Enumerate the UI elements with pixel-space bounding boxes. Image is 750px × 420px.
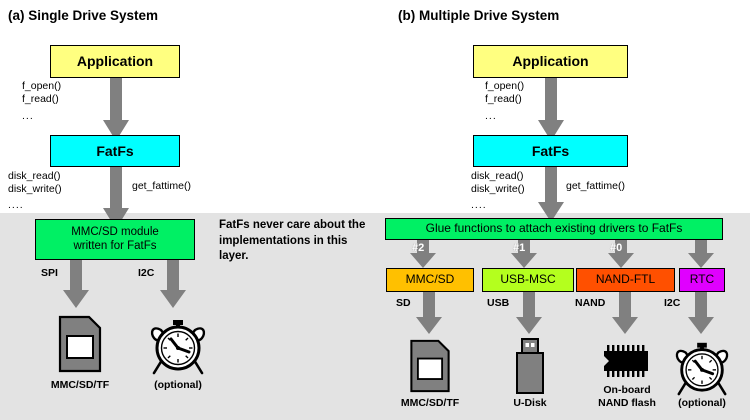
panel-b-fatfs-label: FatFs: [532, 143, 569, 159]
panel-b-call-disk-write: disk_write(): [471, 183, 525, 196]
panel-a-call-disk-read: disk_read(): [8, 170, 61, 183]
nand-chip-icon: [603, 345, 649, 377]
panel-a-call-f-open: f_open(): [22, 80, 61, 93]
panel-b-call-f-open: f_open(): [485, 80, 524, 93]
panel-b-driver-label-rtc: RTC: [690, 273, 714, 287]
panel-b-drive-number-0: #0: [610, 242, 622, 254]
panel-b-device-caption-nand-line1: On-board: [592, 384, 662, 396]
panel-b-glue-box[interactable]: Glue functions to attach existing driver…: [385, 218, 723, 240]
panel-b-bus-label-i2c: I2C: [664, 297, 680, 309]
panel-b-call-get-fattime: get_fattime(): [566, 180, 625, 193]
panel-a-call-ellipsis: ...: [22, 110, 34, 122]
panel-b-drive-number-1: #1: [513, 242, 525, 254]
panel-a-device-caption-rtc: (optional): [144, 379, 212, 391]
panel-b-device-caption-udisk: U-Disk: [498, 397, 562, 409]
panel-b-fatfs-box[interactable]: FatFs: [473, 135, 628, 167]
panel-b-call-f-read: f_read(): [485, 93, 522, 106]
panel-b-device-caption-rtc: (optional): [668, 397, 736, 409]
panel-b-arrow-bus-nand: [612, 292, 638, 334]
panel-b-arrow-fatfs-to-glue: [538, 167, 564, 222]
panel-b-call-ellipsis-2: ....: [471, 199, 487, 211]
panel-b-driver-label-nandftl: NAND-FTL: [596, 273, 655, 287]
panel-a-call-disk-write: disk_write(): [8, 183, 62, 196]
panel-a-note: FatFs never care about the implementatio…: [219, 218, 374, 265]
panel-b-arrow-bus-usb: [516, 292, 542, 334]
panel-b-arrow-bus-sd: [416, 292, 442, 334]
panel-b-drive-number-2: #2: [412, 242, 424, 254]
panel-b-driver-label-usbmsc: USB-MSC: [500, 273, 555, 287]
panel-b-driver-box-mmcsd[interactable]: MMC/SD: [386, 268, 474, 292]
panel-a-call-get-fattime: get_fattime(): [132, 180, 191, 193]
panel-b-driver-box-nandftl[interactable]: NAND-FTL: [576, 268, 675, 292]
panel-b-bus-label-nand: NAND: [575, 297, 605, 309]
panel-b-call-ellipsis: ...: [485, 110, 497, 122]
panel-a-device-caption-sd: MMC/SD/TF: [41, 379, 119, 391]
panel-b-glue-label: Glue functions to attach existing driver…: [426, 222, 683, 236]
panel-a-bus-label-i2c: I2C: [138, 267, 154, 279]
panel-b-bus-label-sd: SD: [396, 297, 411, 309]
panel-a-arrow-app-to-fatfs: [103, 78, 129, 141]
panel-b-driver-box-usbmsc[interactable]: USB-MSC: [482, 268, 574, 292]
panel-a-arrow-i2c: [160, 260, 186, 308]
panel-b-driver-box-rtc[interactable]: RTC: [679, 268, 725, 292]
panel-b-arrow-bus-i2c: [688, 292, 714, 334]
panel-b-device-caption-sd: MMC/SD/TF: [391, 397, 469, 409]
panel-a-fatfs-box[interactable]: FatFs: [50, 135, 180, 167]
diagram-canvas: (a) Single Drive System Application f_op…: [0, 0, 750, 420]
sd-card-icon: [58, 315, 102, 373]
panel-a-module-label-line1: MMC/SD module: [71, 226, 159, 239]
panel-a-call-f-read: f_read(): [22, 93, 59, 106]
sd-card-icon: [409, 339, 451, 393]
panel-a-module-box[interactable]: MMC/SD module written for FatFs: [35, 219, 195, 260]
panel-a-application-label: Application: [77, 53, 153, 69]
panel-b-driver-label-mmcsd: MMC/SD: [406, 273, 455, 287]
panel-a-fatfs-label: FatFs: [96, 143, 133, 159]
panel-a-application-box[interactable]: Application: [50, 45, 180, 78]
panel-a-arrow-spi: [63, 260, 89, 308]
panel-b-application-box[interactable]: Application: [473, 45, 628, 78]
alarm-clock-icon: [673, 336, 731, 396]
panel-b-title: (b) Multiple Drive System: [398, 8, 559, 23]
panel-a-bus-label-spi: SPI: [41, 267, 58, 279]
panel-b-arrow-drive-rtc: [688, 240, 714, 268]
panel-a-title: (a) Single Drive System: [8, 8, 158, 23]
panel-b-call-disk-read: disk_read(): [471, 170, 524, 183]
panel-b-device-caption-nand-line2: NAND flash: [587, 397, 667, 409]
panel-a-call-ellipsis-2: ....: [8, 199, 24, 211]
usb-stick-icon: [515, 338, 545, 394]
panel-a-module-label-line2: written for FatFs: [73, 240, 156, 253]
panel-b-arrow-app-to-fatfs: [538, 78, 564, 141]
panel-b-bus-label-usb: USB: [487, 297, 509, 309]
panel-b-application-label: Application: [512, 53, 588, 69]
alarm-clock-icon: [148, 313, 208, 375]
